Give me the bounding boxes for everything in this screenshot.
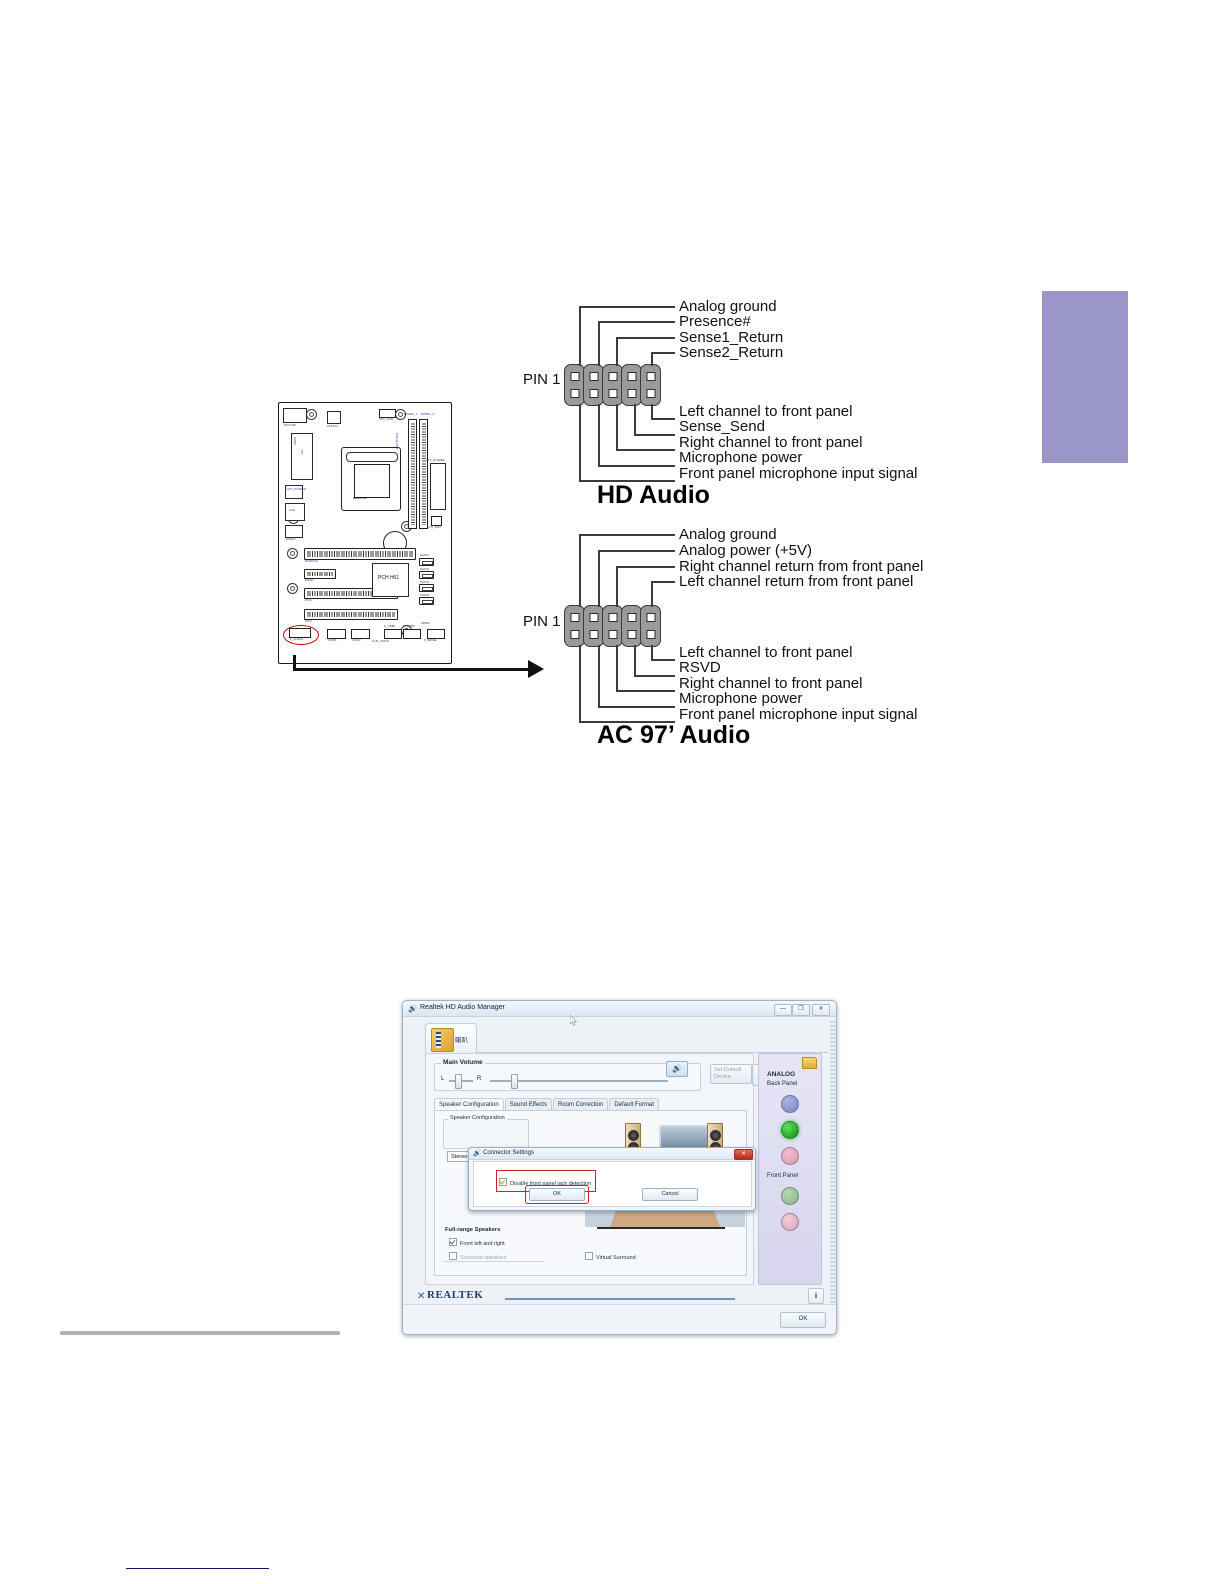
speaker-configuration-legend: Speaker Configuration — [448, 1115, 507, 1121]
dialog-cancel-button[interactable]: Cancel — [642, 1188, 698, 1201]
hd-audio-pinout-diagram: PIN 1 Analog ground Presence# Sense1_Ret… — [520, 288, 1000, 503]
lead-line — [651, 352, 675, 354]
pin-hole — [627, 372, 636, 381]
line-out-jack[interactable] — [781, 1121, 799, 1139]
pin-hole — [570, 613, 579, 622]
footer-divider — [505, 1298, 735, 1300]
mb-label-atxpower: ATX_POWER — [426, 458, 445, 462]
pin-hole — [646, 630, 655, 639]
mb-label-fpanel: F_PANEL — [424, 638, 437, 642]
dialog-close-button[interactable]: ✕ — [734, 1149, 753, 1160]
chipset-label: PCH H61 — [378, 575, 399, 581]
full-range-speakers-legend: Full-range Speakers — [445, 1227, 500, 1233]
mb-label-cpufan: CPU_FAN — [379, 417, 393, 421]
ac97-label-bottom-2: RSVD — [679, 659, 721, 676]
window-title: Realtek HD Audio Manager — [420, 1004, 505, 1011]
pin-hole — [608, 389, 617, 398]
mb-label-fusb1: F_USB1 — [384, 624, 396, 628]
lead-line — [579, 306, 675, 308]
lead-line — [598, 645, 600, 707]
speaker-configuration-group: Speaker Configuration — [443, 1119, 529, 1149]
front-mic-jack[interactable] — [781, 1213, 799, 1231]
window-ok-button[interactable]: OK — [780, 1312, 826, 1328]
ac97-pin1-label: PIN 1 — [523, 613, 561, 630]
mount-hole — [306, 409, 317, 420]
pin-hole — [608, 372, 617, 381]
pin-hole — [570, 389, 579, 398]
ac97-label-top-4: Left channel return from front panel — [679, 573, 913, 590]
main-volume-legend: Main Volume — [441, 1059, 485, 1066]
dialog-body: Disable front panel jack detection OK Ca… — [473, 1161, 752, 1207]
mb-label-sata2: SATA2 — [420, 567, 429, 571]
pin-hole — [627, 613, 636, 622]
cpu-socket: REMOVE — [341, 447, 401, 511]
lead-line — [634, 404, 636, 435]
connector-settings-dialog[interactable]: 🔊 Connector Settings ✕ Disable front pan… — [468, 1147, 756, 1211]
mb-label-fusb2: F_USB2 — [403, 624, 415, 628]
line-in-jack[interactable] — [781, 1095, 799, 1113]
pin-hole — [646, 372, 655, 381]
lead-line — [598, 321, 675, 323]
f-usb1-header — [384, 629, 402, 639]
ac97-audio-title: AC 97’ Audio — [597, 721, 750, 750]
pciex16-slot — [304, 548, 416, 560]
mb-label-dimm2: DIMM1_2 — [421, 412, 434, 416]
tab-speaker-configuration[interactable]: Speaker Configuration — [434, 1098, 504, 1110]
pin-pair-3 — [602, 605, 623, 647]
tab-sound-effects[interactable]: Sound Effects — [505, 1098, 552, 1110]
ac97-label-bottom-4: Microphone power — [679, 690, 802, 707]
callout-arrow-line — [293, 668, 533, 671]
front-panel-label: Front Panel — [767, 1173, 798, 1179]
speaker-icon: 🔊 — [473, 1150, 481, 1157]
mouse-cursor-icon — [570, 1015, 578, 1026]
set-default-device-button[interactable]: Set Default Device — [710, 1064, 752, 1084]
pin-hole — [627, 389, 636, 398]
lead-line — [651, 581, 653, 607]
minimize-button[interactable]: — — [774, 1004, 792, 1016]
lead-line — [651, 404, 653, 419]
socket-remove-label: REMOVE — [353, 496, 366, 500]
mb-label-pci1: PCI1 — [305, 598, 312, 602]
lead-line — [598, 321, 600, 366]
lead-line — [616, 690, 675, 692]
mb-label-pciex16: PCIEX16 — [305, 559, 318, 563]
lead-line — [579, 306, 581, 366]
pin-hole — [627, 630, 636, 639]
hd-label-bottom-5: Front panel microphone input signal — [679, 465, 917, 482]
pin-pair-2 — [583, 605, 604, 647]
pin-hole — [608, 613, 617, 622]
checkbox-label: Front left and right — [460, 1241, 505, 1247]
dimm-slot-2 — [419, 419, 428, 529]
front-audio-highlight-ring — [283, 625, 319, 645]
f-usb2-header — [403, 629, 421, 639]
socket-lever — [346, 452, 398, 462]
pin-hole — [589, 630, 598, 639]
lead-line — [616, 337, 675, 339]
pin-pair-5 — [640, 605, 661, 647]
hd-label-top-4: Sense2_Return — [679, 344, 783, 361]
back-panel-label: Back Panel — [767, 1081, 797, 1087]
rug-edge-line — [597, 1227, 725, 1229]
sata-port-4 — [419, 597, 434, 605]
hd-label-bottom-4: Microphone power — [679, 449, 802, 466]
lead-line — [616, 449, 675, 451]
pin-pair-3 — [602, 364, 623, 406]
mic-in-jack[interactable] — [781, 1147, 799, 1165]
hd-pin1-label: PIN 1 — [523, 371, 561, 388]
dialog-title: Connector Settings — [483, 1150, 534, 1156]
mb-label-ps2: PS/2 KB — [284, 423, 296, 427]
mb-label-sata3: SATA3 — [420, 580, 429, 584]
lead-line — [651, 352, 653, 366]
lead-line — [598, 404, 600, 466]
front-headphone-jack[interactable] — [781, 1187, 799, 1205]
lead-line — [634, 434, 675, 436]
lead-line — [651, 418, 675, 420]
pin-pair-1 — [564, 364, 585, 406]
mb-label-sata1: SATA1 — [420, 553, 429, 557]
pin-hole — [570, 372, 579, 381]
mb-label-atx12v: ATX12V — [327, 424, 338, 428]
lan-usb-ports — [285, 503, 305, 521]
window-bottom-bar: OK — [403, 1304, 836, 1334]
mb-label-audio: AUDIO — [286, 537, 296, 541]
pin-hole — [646, 613, 655, 622]
mb-label-usb: ATX_POWER — [287, 487, 306, 491]
atx12v-connector — [327, 411, 341, 424]
checkbox-label: Virtual Surround — [596, 1255, 636, 1261]
lead-line — [651, 581, 675, 583]
speaker-device-icon — [431, 1028, 454, 1052]
lead-line — [598, 550, 675, 552]
ps2-port — [283, 408, 307, 423]
analog-jacks-panel: ANALOG Back Panel Front Panel — [758, 1053, 822, 1285]
lead-line — [634, 675, 675, 677]
tab-room-correction[interactable]: Room Correction — [553, 1098, 608, 1110]
sata-port-3 — [419, 584, 434, 592]
lead-line — [598, 706, 675, 708]
lead-line — [598, 465, 675, 467]
mb-label-pcie1: PCIE1 — [305, 578, 314, 582]
pin-pair-4 — [621, 605, 642, 647]
ac97-label-top-1: Analog ground — [679, 526, 777, 543]
mount-hole — [287, 583, 298, 594]
dialog-ok-button[interactable]: OK — [529, 1188, 585, 1201]
pin-hole — [646, 389, 655, 398]
lead-line — [651, 645, 653, 660]
checkbox-surround-speakers: Surround speakers — [449, 1252, 506, 1261]
settings-tabs[interactable]: Speaker Configuration Sound Effects Room… — [434, 1098, 660, 1110]
page-edge-marker — [1042, 291, 1128, 463]
lead-line — [616, 566, 675, 568]
balance-slider-thumb[interactable] — [455, 1074, 462, 1089]
atx-power-connector — [430, 463, 446, 510]
main-volume-group: Main Volume L R — [434, 1063, 701, 1091]
pin-pair-4 — [621, 364, 642, 406]
page-bottom-rule — [126, 1568, 269, 1569]
mute-speaker-button[interactable]: 🔊 — [666, 1061, 688, 1077]
pin-hole — [589, 613, 598, 622]
window-shadow — [60, 1331, 340, 1335]
speaker-cone — [628, 1130, 639, 1141]
mb-label-com1: COM1 — [328, 638, 337, 642]
ac97-pin-header — [564, 605, 659, 647]
pin-hole — [589, 372, 598, 381]
ac97-label-top-2: Analog power (+5V) — [679, 542, 812, 559]
mb-label-sata4: SATA4 — [420, 593, 429, 597]
lead-line — [616, 337, 618, 366]
speaker-configuration-value: Stereo — [451, 1154, 467, 1160]
checkbox-indicator — [449, 1238, 457, 1246]
lead-line — [651, 659, 675, 661]
mb-model-label: H61H2-M16 — [395, 433, 399, 449]
info-button[interactable]: i — [808, 1288, 824, 1304]
pin-pair-5 — [640, 364, 661, 406]
device-tab[interactable]: 喇叭 — [425, 1023, 477, 1055]
ac97-audio-pinout-diagram: PIN 1 Analog ground Analog power (+5V) R… — [520, 512, 1010, 747]
maximize-button[interactable]: ❐ — [792, 1004, 810, 1016]
mb-label-sysfan: SYS_FAN — [427, 525, 441, 529]
left-channel-label: L — [441, 1076, 444, 1082]
pin-hole — [589, 389, 598, 398]
lead-line — [616, 645, 618, 691]
lead-line — [579, 404, 581, 481]
mb-label-clrcmos: CLR_CMOS — [372, 639, 389, 643]
window-scroll-strip[interactable] — [830, 1021, 836, 1304]
mb-label-dimm1: DIMM1_1 — [404, 412, 417, 416]
lead-line — [579, 534, 581, 607]
close-button[interactable]: ✕ — [812, 1004, 830, 1016]
mb-label-lan: LAN — [289, 508, 295, 512]
pin-hole — [608, 630, 617, 639]
panel-divider — [443, 1261, 543, 1262]
sata-port-2 — [419, 571, 434, 579]
window-footer: ✕ REALTEK i — [419, 1289, 836, 1305]
mb-label-com2: COM2 — [352, 638, 361, 642]
lead-line — [579, 645, 581, 722]
lead-line — [616, 566, 618, 607]
mb-label-lpt: LPT — [300, 449, 304, 455]
realtek-brand-text: REALTEK — [427, 1289, 483, 1301]
mb-label-pci2: PCI2 — [305, 619, 312, 623]
mount-hole — [287, 548, 298, 559]
checkbox-indicator — [585, 1252, 593, 1260]
hd-audio-title: HD Audio — [597, 481, 710, 510]
folder-icon[interactable] — [802, 1057, 817, 1069]
pci2-slot — [304, 609, 398, 620]
device-tab-label: 喇叭 — [455, 1034, 468, 1044]
checkbox-indicator — [499, 1178, 507, 1186]
pin-hole — [570, 630, 579, 639]
socket-pad — [354, 464, 390, 498]
volume-slider-thumb[interactable] — [511, 1074, 518, 1089]
speaker-cone — [710, 1130, 721, 1141]
window-title-bar[interactable]: 🔊 Realtek HD Audio Manager — ❐ ✕ — [403, 1001, 836, 1017]
mb-label-spdif: SPDIF — [421, 621, 430, 625]
pin-pair-2 — [583, 364, 604, 406]
hd-label-top-2: Presence# — [679, 313, 751, 330]
tab-default-format[interactable]: Default Format — [609, 1098, 659, 1110]
lead-line — [579, 534, 675, 536]
lead-line — [634, 645, 636, 676]
speaker-icon: 🔊 — [408, 1005, 417, 1013]
motherboard-diagram: PS/2 KB ATX12V CPU_FAN HDMI LPT ATX_POWE… — [278, 402, 452, 664]
hd-label-bottom-2: Sense_Send — [679, 418, 765, 435]
realtek-logo-icon: ✕ — [417, 1291, 425, 1302]
checkbox-virtual-surround[interactable]: Virtual Surround — [585, 1252, 636, 1261]
checkbox-front-left-and-right[interactable]: Front left and right — [449, 1238, 505, 1247]
checkbox-indicator — [449, 1252, 457, 1260]
mb-label-hdmi: HDMI — [293, 437, 297, 445]
hd-pin-header — [564, 364, 659, 406]
dialog-title-bar[interactable]: 🔊 Connector Settings ✕ — [469, 1148, 755, 1160]
lead-line — [616, 404, 618, 450]
dimm-slot-1 — [408, 419, 417, 529]
lead-line — [598, 550, 600, 607]
sata-port-1 — [419, 558, 434, 566]
right-channel-label: R — [477, 1076, 481, 1082]
analog-title: ANALOG — [767, 1071, 795, 1078]
pin-pair-1 — [564, 605, 585, 647]
